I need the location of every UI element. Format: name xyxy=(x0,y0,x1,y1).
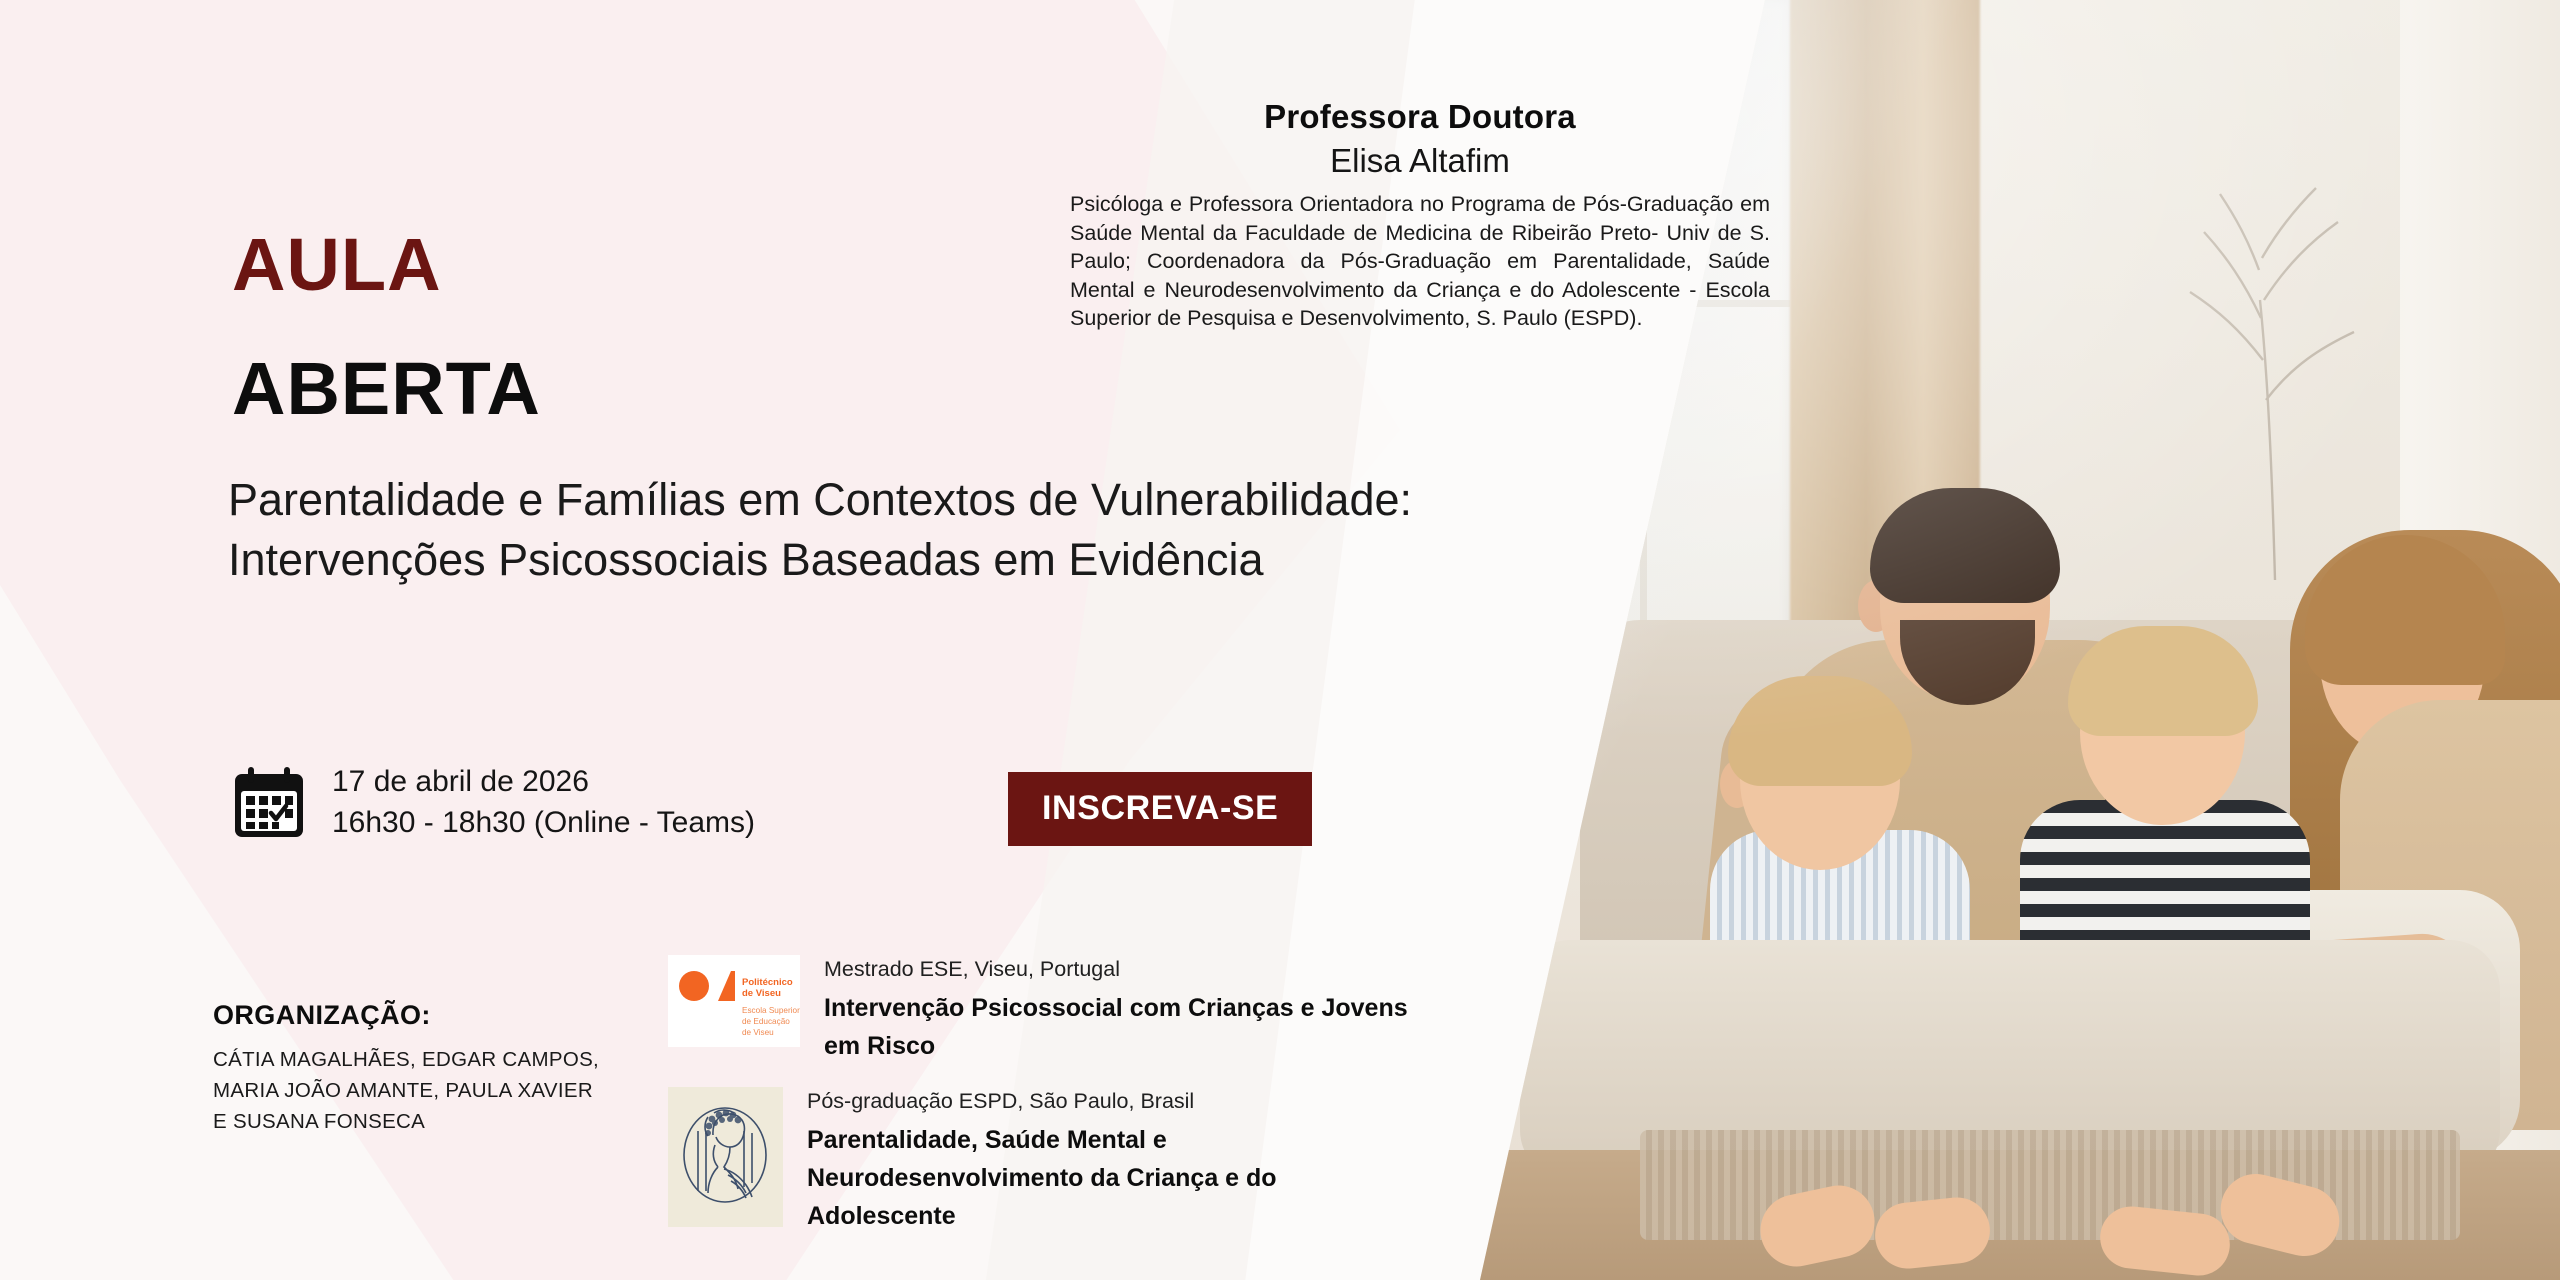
event-datetime-text: 17 de abril de 2026 16h30 - 18h30 (Onlin… xyxy=(332,762,755,843)
speaker-bio: Psicóloga e Professora Orientadora no Pr… xyxy=(1070,190,1770,333)
speaker-block: Professora Doutora Elisa Altafim Psicólo… xyxy=(1070,98,1770,333)
event-date: 17 de abril de 2026 xyxy=(332,762,755,803)
program-subtitle: Pós-graduação ESPD, São Paulo, Brasil xyxy=(807,1089,1428,1115)
espd-logo-svg xyxy=(668,1087,783,1227)
politecnico-de-viseu-logo-svg: Politécnico de Viseu Escola Superior de … xyxy=(668,955,800,1047)
program-subtitle: Mestrado ESE, Viseu, Portugal xyxy=(824,957,1428,983)
espd-classical-bust-logo xyxy=(668,1087,783,1227)
inscreva-se-button[interactable]: INSCREVA-SE xyxy=(1008,772,1312,846)
lecture-title: Parentalidade e Famílias em Contextos de… xyxy=(228,470,1458,590)
event-datetime: 17 de abril de 2026 16h30 - 18h30 (Onlin… xyxy=(232,762,755,843)
svg-text:de Educação: de Educação xyxy=(742,1017,790,1026)
program-row: Pós-graduação ESPD, São Paulo, Brasil Pa… xyxy=(668,1087,1428,1235)
svg-text:de Viseu: de Viseu xyxy=(742,1028,774,1037)
organizer-line-2: MARIA JOÃO AMANTE, PAULA XAVIER xyxy=(213,1076,633,1107)
event-time: 16h30 - 18h30 (Online - Teams) xyxy=(332,803,755,844)
speaker-name: Elisa Altafim xyxy=(1070,142,1770,180)
kicker-line-aula: AULA xyxy=(232,228,442,302)
svg-text:Politécnico: Politécnico xyxy=(742,977,793,988)
program-name: Parentalidade, Saúde Mental e Neurodesen… xyxy=(807,1121,1428,1235)
program-text: Pós-graduação ESPD, São Paulo, Brasil Pa… xyxy=(807,1087,1428,1235)
calendar-check-icon xyxy=(232,766,306,840)
organizer-line-1: CÁTIA MAGALHÃES, EDGAR CAMPOS, xyxy=(213,1045,633,1076)
program-text: Mestrado ESE, Viseu, Portugal Intervençã… xyxy=(824,955,1428,1065)
program-row: Politécnico de Viseu Escola Superior de … xyxy=(668,955,1428,1065)
organizer-line-3: E SUSANA FONSECA xyxy=(213,1107,633,1138)
poster-content: AULA ABERTA Parentalidade e Famílias em … xyxy=(0,0,2560,1280)
speaker-role: Professora Doutora xyxy=(1070,98,1770,136)
politecnico-de-viseu-logo: Politécnico de Viseu Escola Superior de … xyxy=(668,955,800,1047)
programs-list: Politécnico de Viseu Escola Superior de … xyxy=(668,955,1428,1257)
program-name: Intervenção Psicossocial com Crianças e … xyxy=(824,989,1428,1065)
organization-names: CÁTIA MAGALHÃES, EDGAR CAMPOS, MARIA JOÃ… xyxy=(213,1045,633,1137)
svg-text:de Viseu: de Viseu xyxy=(742,988,781,999)
organization-block: ORGANIZAÇÃO: CÁTIA MAGALHÃES, EDGAR CAMP… xyxy=(213,1000,633,1137)
organization-title: ORGANIZAÇÃO: xyxy=(213,1000,633,1031)
kicker-line-aberta: ABERTA xyxy=(232,352,541,426)
svg-text:Escola Superior: Escola Superior xyxy=(742,1006,800,1015)
